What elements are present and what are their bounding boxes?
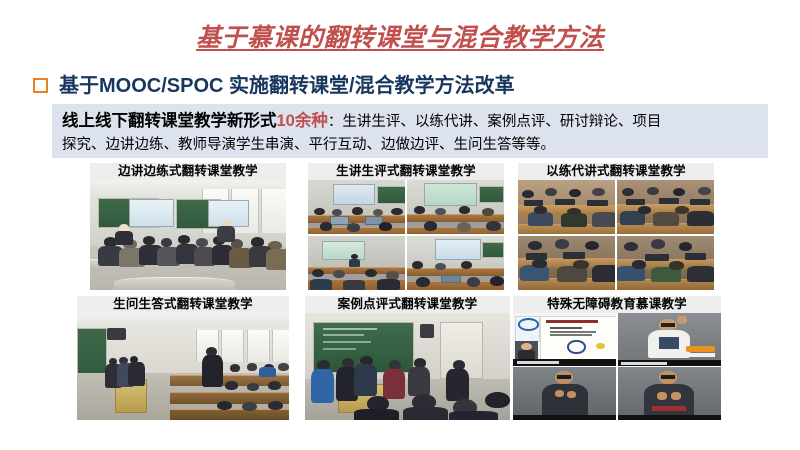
photo-caption-3: 以练代讲式翻转课堂教学	[518, 163, 714, 180]
photo-row-bottom: 生问生答式翻转课堂教学	[0, 296, 800, 428]
lecture-hall-collage	[308, 180, 504, 290]
body-line1-rest: ：生讲生评、以练代讲、案例点评、研讨辩论、项目	[328, 114, 662, 130]
body-text-line-2: 探究、边讲边练、教师导演学生串演、平行互动、边做边评、生问生答等等。	[62, 134, 758, 157]
bullet-heading-row: 基于MOOC/SPOC 实施翻转课堂/混合教学方法改革	[33, 69, 515, 98]
photo-image-3	[518, 180, 714, 290]
students-laptops-collage	[518, 180, 714, 290]
photo-card-1: 边讲边练式翻转课堂教学	[90, 163, 286, 290]
body-text-line-1: 线上线下翻转课堂教学新形式10余种：生讲生评、以练代讲、案例点评、研讨辩论、项目	[62, 110, 758, 134]
photo-image-2	[308, 180, 504, 290]
body-line1-number: 10余种	[277, 112, 328, 130]
photo-caption-2: 生讲生评式翻转课堂教学	[308, 163, 504, 180]
photo-caption-1: 边讲边练式翻转课堂教学	[90, 163, 286, 180]
classroom-scene	[90, 180, 286, 290]
body-line1-lead: 线上线下翻转课堂教学新形式	[62, 112, 277, 130]
mooc-sign-language-collage	[513, 313, 721, 420]
photo-card-6: 特殊无障碍教育慕课教学	[513, 296, 721, 420]
photo-image-1	[90, 180, 286, 290]
photo-row-top: 边讲边练式翻转课堂教学	[0, 163, 800, 295]
slide-canvas: 基于慕课的翻转课堂与混合教学方法 基于MOOC/SPOC 实施翻转课堂/混合教学…	[0, 0, 800, 450]
photo-caption-5: 案例点评式翻转课堂教学	[305, 296, 510, 313]
photo-card-4: 生问生答式翻转课堂教学	[77, 296, 289, 420]
photo-card-2: 生讲生评式翻转课堂教学	[308, 163, 504, 290]
case-review-scene	[305, 313, 510, 420]
photo-caption-4: 生问生答式翻转课堂教学	[77, 296, 289, 313]
page-title: 基于慕课的翻转课堂与混合教学方法	[0, 18, 800, 54]
photo-image-6	[513, 313, 721, 420]
bullet-heading-text: 基于MOOC/SPOC 实施翻转课堂/混合教学方法改革	[59, 69, 515, 98]
body-text-box: 线上线下翻转课堂教学新形式10余种：生讲生评、以练代讲、案例点评、研讨辩论、项目…	[52, 104, 768, 158]
photo-image-4	[77, 313, 289, 420]
photo-caption-6: 特殊无障碍教育慕课教学	[513, 296, 721, 313]
question-answer-scene	[77, 313, 289, 420]
hollow-square-bullet-icon	[33, 78, 48, 93]
photo-card-3: 以练代讲式翻转课堂教学	[518, 163, 714, 290]
photo-card-5: 案例点评式翻转课堂教学	[305, 296, 510, 420]
photo-image-5	[305, 313, 510, 420]
